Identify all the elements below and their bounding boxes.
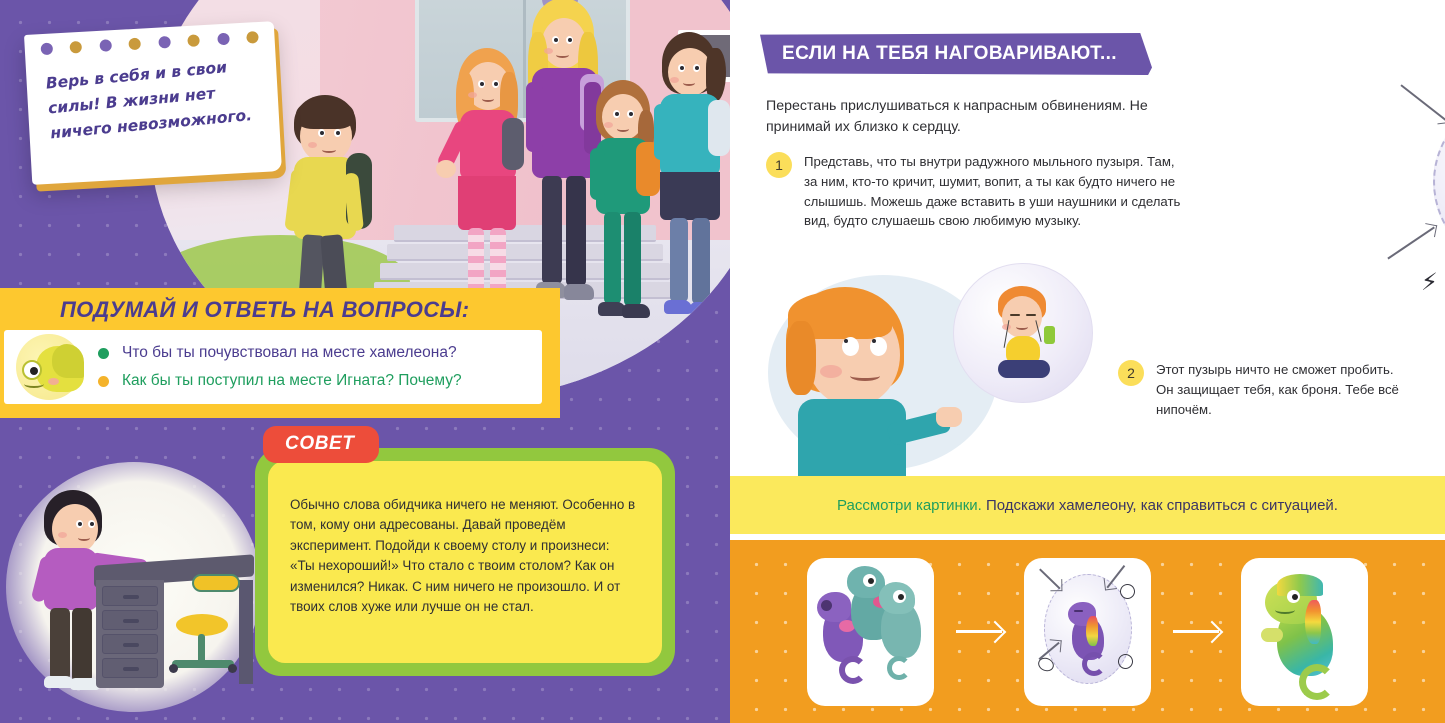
picture-card-2[interactable] xyxy=(1024,558,1151,706)
question-item: Что бы ты почувствовал на месте хамелеон… xyxy=(98,339,532,367)
chameleon-rainbow-happy xyxy=(1261,572,1353,696)
desk-drawers xyxy=(96,580,164,688)
task-bar-rest: Подскажи хамелеону, как справиться с сит… xyxy=(982,497,1338,514)
arrow-icon xyxy=(956,630,1002,633)
step-2: 2 Этот пузырь ничто не сможет пробить. О… xyxy=(1118,360,1408,419)
question-item: Как бы ты поступил на месте Игната? Поче… xyxy=(98,367,532,395)
advice-card-inner: Обычно слова обидчика ничего не меняют. … xyxy=(268,461,662,663)
bullet-dot xyxy=(98,348,109,359)
chair-base xyxy=(172,660,234,668)
character-girl-ponytail xyxy=(650,32,730,340)
right-page: ЕСЛИ НА ТЕБЯ НАГОВАРИВАЮТ... Перестань п… xyxy=(730,0,1445,723)
boy-and-desk-illustration xyxy=(6,462,261,712)
section-banner: ЕСЛИ НА ТЕБЯ НАГОВАРИВАЮТ... xyxy=(760,33,1152,75)
task-bar-text: Рассмотри картинки. Подскажи хамелеону, … xyxy=(837,497,1338,514)
picture-sequence-band xyxy=(730,540,1445,723)
character-pointing-boy xyxy=(784,287,964,477)
incoming-arrow xyxy=(1401,84,1445,121)
step-text: Представь, что ты внутри радужного мыльн… xyxy=(804,152,1186,231)
step-number-badge: 2 xyxy=(1118,360,1144,386)
lightning-icon: ⚡ xyxy=(1421,268,1438,296)
intro-paragraph: Перестань прислушиваться к напрасным обв… xyxy=(766,96,1196,139)
chameleon-teal-teasing-2 xyxy=(879,576,931,678)
question-text: Как бы ты поступил на месте Игната? Поче… xyxy=(122,372,462,390)
task-bar: Рассмотри картинки. Подскажи хамелеону, … xyxy=(730,476,1445,534)
chair-seat xyxy=(176,614,228,636)
thought-bubble xyxy=(953,263,1093,403)
picture-cards-row xyxy=(730,540,1445,723)
chameleon-face-icon xyxy=(16,334,82,400)
picture-card-1[interactable] xyxy=(807,558,934,706)
bullet-dot xyxy=(98,376,109,387)
question-text: Что бы ты почувствовал на месте хамелеон… xyxy=(122,344,457,362)
bubble-protection-illustration: ⚡ ⚡ ⚡ ⚡ xyxy=(1385,46,1445,318)
picture-card-3[interactable] xyxy=(1241,558,1368,706)
step-number-badge: 1 xyxy=(766,152,792,178)
chair-back xyxy=(192,574,240,592)
incoming-arrow xyxy=(1387,226,1434,259)
questions-title: ПОДУМАЙ И ОТВЕТЬ НА ВОПРОСЫ: xyxy=(4,292,542,330)
advice-text: Обычно слова обидчика ничего не меняют. … xyxy=(290,495,636,617)
desk-leg xyxy=(239,580,253,684)
step-1: 1 Представь, что ты внутри радужного мыл… xyxy=(766,152,1186,231)
sticky-note: Верь в себя и в свои силы! В жизни нет н… xyxy=(24,21,282,185)
section-banner-title: ЕСЛИ НА ТЕБЯ НАГОВАРИВАЮТ... xyxy=(782,43,1117,65)
pointing-boy-illustration xyxy=(758,265,1098,477)
character-boy-listening-music xyxy=(988,286,1064,382)
book-spread: школа №1 Ч Ф5 Ф xyxy=(0,0,1445,723)
questions-section: ПОДУМАЙ И ОТВЕТЬ НА ВОПРОСЫ: Что бы ты п… xyxy=(0,288,560,418)
advice-tag-label: СОВЕТ xyxy=(263,426,379,463)
sticky-note-text: Верь в себя и в свои силы! В жизни нет н… xyxy=(45,53,259,147)
chameleon-in-bubble xyxy=(1068,598,1114,674)
left-page: школа №1 Ч Ф5 Ф xyxy=(0,0,730,723)
questions-panel: Что бы ты почувствовал на месте хамелеон… xyxy=(4,330,542,404)
advice-card: СОВЕТ Обычно слова обидчика ничего не ме… xyxy=(255,448,675,676)
task-bar-highlight: Рассмотри картинки. xyxy=(837,497,982,514)
arrow-icon xyxy=(1173,630,1219,633)
incoming-arrow xyxy=(1039,568,1060,589)
step-text: Этот пузырь ничто не сможет пробить. Он … xyxy=(1156,360,1408,419)
